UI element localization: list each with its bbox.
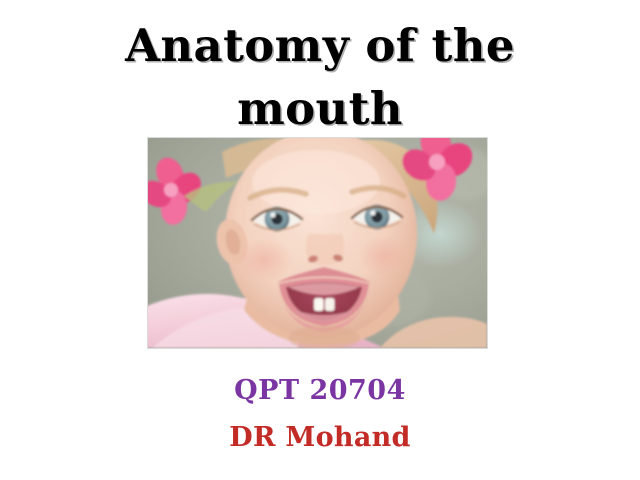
presentation-slide: Anatomy of the mouth bbox=[0, 0, 640, 480]
presenter-name-text: DR Mohand bbox=[0, 422, 640, 454]
baby-photo-illustration bbox=[148, 138, 487, 348]
baby-smiling-photo bbox=[148, 138, 487, 348]
course-code-text: QPT 20704 bbox=[0, 375, 640, 407]
page-title: Anatomy of the mouth bbox=[0, 14, 640, 140]
